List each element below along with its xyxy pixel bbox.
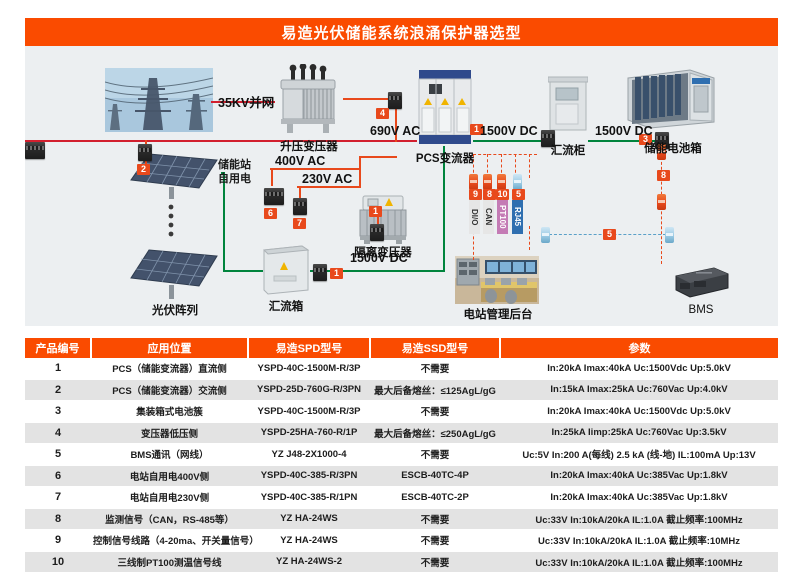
- cell-ssd-model: 不需要: [370, 401, 500, 423]
- photo-transmission-tower: [105, 68, 213, 132]
- photo-pcs-inverter: [417, 68, 473, 146]
- badge-9: 9: [469, 189, 482, 200]
- photo-control-room: [455, 256, 539, 304]
- cell-location: PCS（储能变流器）交流侧: [91, 379, 248, 401]
- cell-parameters: In:20kA Imax:40kA Uc:385Vac Up:1.8kV: [500, 465, 778, 487]
- cell-location: 控制信号线路（4-20ma、开关量信号）: [91, 530, 248, 552]
- port-chip-dio: DI/O: [469, 200, 480, 234]
- spd-device-2: [138, 144, 152, 161]
- cell-product-no: 4: [25, 422, 91, 444]
- solar-panel-icon: [125, 242, 223, 300]
- port-chip-pt100: PT100: [497, 200, 508, 234]
- badge-1-combinerbox: 1: [330, 268, 343, 279]
- caption-isolation-transformer: 隔离变压器: [343, 244, 423, 260]
- bms-device-icon: [670, 264, 732, 302]
- signal-protector-upper-4: [513, 174, 522, 190]
- cell-parameters: In:20kA Imax:40kA Uc:385Vac Up:1.8kV: [500, 487, 778, 509]
- table-row: 2 PCS（储能变流器）交流侧 YSPD-25D-760G-R/3PN 最大后备…: [25, 379, 778, 401]
- caption-combiner-cabinet: 汇流柜: [533, 142, 603, 158]
- badge-5-backstage: 5: [603, 229, 616, 240]
- table-header-row: 产品编号 应用位置 易造SPD型号 易造SSD型号 参数: [25, 338, 778, 358]
- page-title-text: 易造光伏储能系统浪涌保护器选型: [281, 22, 521, 43]
- label-690v-ac: 690V AC: [370, 124, 420, 138]
- badge-2: 2: [137, 164, 150, 175]
- cell-location: PCS（储能变流器）直流侧: [91, 358, 248, 379]
- label-1500v-dc-a: 1500V DC: [480, 124, 538, 138]
- caption-station-backstage: 电站管理后台: [443, 306, 553, 322]
- label-230v-ac: 230V AC: [302, 172, 352, 186]
- caption-bms: BMS: [671, 304, 731, 316]
- cell-spd-model: YSPD-40C-385-R/1PN: [248, 487, 370, 509]
- signal-protector-upper-1: [469, 174, 478, 190]
- transmission-tower-icon: [105, 68, 213, 132]
- label-station-own-use-2: 自用电: [218, 170, 251, 186]
- table-row: 8 监测信号（CAN，RS-485等） YZ HA-24WS 不需要 Uc:33…: [25, 508, 778, 530]
- step-up-transformer-icon: [271, 64, 345, 136]
- col-header-product-no: 产品编号: [25, 338, 91, 358]
- vertical-ellipsis-icon: [167, 204, 175, 238]
- caption-pv-array: 光伏阵列: [135, 302, 215, 318]
- photo-bms-device: [670, 264, 732, 302]
- table-row: 10 三线制PT100测温信号线 YZ HA-24WS-2 不需要 Uc:33V…: [25, 551, 778, 573]
- wire-isotrans-top: [359, 156, 397, 158]
- photo-step-up-transformer: [271, 64, 345, 136]
- cell-product-no: 6: [25, 465, 91, 487]
- cell-spd-model: YZ HA-24WS: [248, 508, 370, 530]
- caption-battery-container: 储能电池箱: [633, 140, 713, 156]
- cell-parameters: In:25kA Iimp:25kA Uc:760Vac Up:3.5kV: [500, 422, 778, 444]
- cell-ssd-model: 不需要: [370, 530, 500, 552]
- cell-ssd-model: 不需要: [370, 551, 500, 573]
- cell-spd-model: YZ HA-24WS: [248, 530, 370, 552]
- cell-spd-model: YSPD-25HA-760-R/1P: [248, 422, 370, 444]
- cell-location: BMS通讯（网线）: [91, 444, 248, 466]
- cell-product-no: 3: [25, 401, 91, 423]
- cell-parameters: Uc:33V In:10kA/20kA IL:1.0A 截止频率:100MHz: [500, 508, 778, 530]
- label-1500v-dc-b: 1500V DC: [595, 124, 653, 138]
- col-header-location: 应用位置: [91, 338, 248, 358]
- cell-spd-model: YSPD-40C-1500M-R/3P: [248, 358, 370, 379]
- photo-combiner-cabinet: [548, 76, 588, 134]
- spd-device-iso: [370, 224, 384, 241]
- badge-6: 6: [264, 208, 277, 219]
- cell-product-no: 8: [25, 508, 91, 530]
- cell-product-no: 9: [25, 530, 91, 552]
- page-root: 易造光伏储能系统浪涌保护器选型: [0, 0, 800, 565]
- cell-parameters: In:20kA Imax:40kA Uc:1500Vdc Up:5.0kV: [500, 358, 778, 379]
- cell-product-no: 10: [25, 551, 91, 573]
- table-row: 1 PCS（储能变流器）直流侧 YSPD-40C-1500M-R/3P 不需要 …: [25, 358, 778, 379]
- spd-device-6: [264, 188, 284, 205]
- badge-7: 7: [293, 218, 306, 229]
- table-body: 1 PCS（储能变流器）直流侧 YSPD-40C-1500M-R/3P 不需要 …: [25, 358, 778, 573]
- badge-8-container: 8: [657, 170, 670, 181]
- cell-spd-model: YSPD-25D-760G-R/3PN: [248, 379, 370, 401]
- wire-isotrans-riser: [359, 156, 361, 188]
- wire-pv-riser: [223, 172, 225, 272]
- caption-step-up-transformer: 升压变压器: [271, 138, 347, 154]
- caption-combiner-box: 汇流箱: [251, 298, 321, 314]
- wire-400v-drop-6: [271, 168, 273, 186]
- signal-protector-upper-3: [497, 174, 506, 190]
- port-chip-can: CAN: [483, 200, 494, 234]
- table-row: 6 电站自用电400V侧 YSPD-40C-385-R/3PN ESCB-40T…: [25, 465, 778, 487]
- spd-selection-table: 产品编号 应用位置 易造SPD型号 易造SSD型号 参数 1 PCS（储能变流器…: [25, 338, 778, 573]
- signal-protector-backstage: [541, 227, 550, 243]
- cell-ssd-model: 最大后备熔丝：≤125AgL/gG: [370, 379, 500, 401]
- badge-1-iso: 1: [369, 206, 382, 217]
- port-chip-rj45: RJ45: [512, 200, 523, 234]
- col-header-ssd-model: 易造SSD型号: [370, 338, 500, 358]
- cell-spd-model: YSPD-40C-385-R/3PN: [248, 465, 370, 487]
- cell-ssd-model: ESCB-40TC-4P: [370, 465, 500, 487]
- combiner-box-icon: [262, 242, 310, 296]
- cell-spd-model: YZ J48-2X1000-4: [248, 444, 370, 466]
- table-row: 5 BMS通讯（网线） YZ J48-2X1000-4 不需要 Uc:5V In…: [25, 444, 778, 466]
- wire-400v: [270, 168, 360, 170]
- wire-signal-down-2: [529, 226, 530, 250]
- table-row: 9 控制信号线路（4-20ma、开关量信号） YZ HA-24WS 不需要 Uc…: [25, 530, 778, 552]
- label-35kv-grid: 35KV并网: [218, 92, 274, 111]
- signal-protector-bms: [665, 227, 674, 243]
- photo-pv-panel-bottom: [125, 242, 223, 300]
- cell-parameters: Uc:5V In:200 A(每线) 2.5 kA (线-地) IL:100mA…: [500, 444, 778, 466]
- cell-ssd-model: 不需要: [370, 508, 500, 530]
- page-title: 易造光伏储能系统浪涌保护器选型: [25, 18, 778, 46]
- cell-product-no: 5: [25, 444, 91, 466]
- table-row: 4 变压器低压侧 YSPD-25HA-760-R/1P 最大后备熔丝：≤250A…: [25, 422, 778, 444]
- badge-5-rj45: 5: [512, 189, 525, 200]
- col-header-parameters: 参数: [500, 338, 778, 358]
- cell-location: 集装箱式电池簇: [91, 401, 248, 423]
- cell-spd-model: YSPD-40C-1500M-R/3P: [248, 401, 370, 423]
- table-row: 3 集装箱式电池簇 YSPD-40C-1500M-R/3P 不需要 In:20k…: [25, 401, 778, 423]
- spd-device-combinerbox: [313, 264, 327, 281]
- spd-device-4: [388, 92, 402, 109]
- system-diagram: DI/O CAN PT100 RJ45 4 2 1 3 6 7 1 1 9 8 …: [25, 46, 778, 326]
- cell-ssd-model: 不需要: [370, 358, 500, 379]
- cell-location: 监测信号（CAN，RS-485等）: [91, 508, 248, 530]
- table-row: 7 电站自用电230V侧 YSPD-40C-385-R/1PN ESCB-40T…: [25, 487, 778, 509]
- cell-parameters: Uc:33V In:10kA/20kA IL:1.0A 截止频率:10MHz: [500, 530, 778, 552]
- cell-ssd-model: 最大后备熔丝：≤250AgL/gG: [370, 422, 500, 444]
- photo-combiner-box: [262, 242, 310, 296]
- cell-parameters: In:20kA Imax:40kA Uc:1500Vdc Up:5.0kV: [500, 401, 778, 423]
- cell-product-no: 1: [25, 358, 91, 379]
- cell-location: 电站自用电400V侧: [91, 465, 248, 487]
- badge-8: 8: [483, 189, 496, 200]
- wire-signal-v4: [529, 154, 530, 178]
- caption-pcs: PCS变流器: [407, 150, 483, 166]
- cell-product-no: 2: [25, 379, 91, 401]
- label-400v-ac: 400V AC: [275, 154, 325, 168]
- spd-device-left: [25, 142, 45, 159]
- signal-protector-container-bottom: [657, 194, 666, 210]
- wire-pv-to-combinerbox: [223, 270, 263, 272]
- cell-ssd-model: 不需要: [370, 444, 500, 466]
- cell-product-no: 7: [25, 487, 91, 509]
- col-header-spd-model: 易造SPD型号: [248, 338, 370, 358]
- badge-10: 10: [496, 189, 509, 200]
- badge-4: 4: [376, 108, 389, 119]
- wire-690v-bus: [25, 140, 417, 142]
- cell-location: 电站自用电230V侧: [91, 487, 248, 509]
- table-head: 产品编号 应用位置 易造SPD型号 易造SSD型号 参数: [25, 338, 778, 358]
- cell-parameters: In:15kA Imax:25kA Uc:760Vac Up:4.0kV: [500, 379, 778, 401]
- wire-230v: [297, 186, 359, 188]
- cell-location: 三线制PT100测温信号线: [91, 551, 248, 573]
- cell-parameters: Uc:33V In:10kA/20kA IL:1.0A 截止频率:100MHz: [500, 551, 778, 573]
- pcs-inverter-icon: [417, 68, 473, 146]
- cell-location: 变压器低压侧: [91, 422, 248, 444]
- control-room-icon: [455, 256, 539, 304]
- spd-device-7: [293, 198, 307, 215]
- combiner-cabinet-icon: [548, 76, 588, 134]
- cell-spd-model: YZ HA-24WS-2: [248, 551, 370, 573]
- cell-ssd-model: ESCB-40TC-2P: [370, 487, 500, 509]
- signal-protector-upper-2: [483, 174, 492, 190]
